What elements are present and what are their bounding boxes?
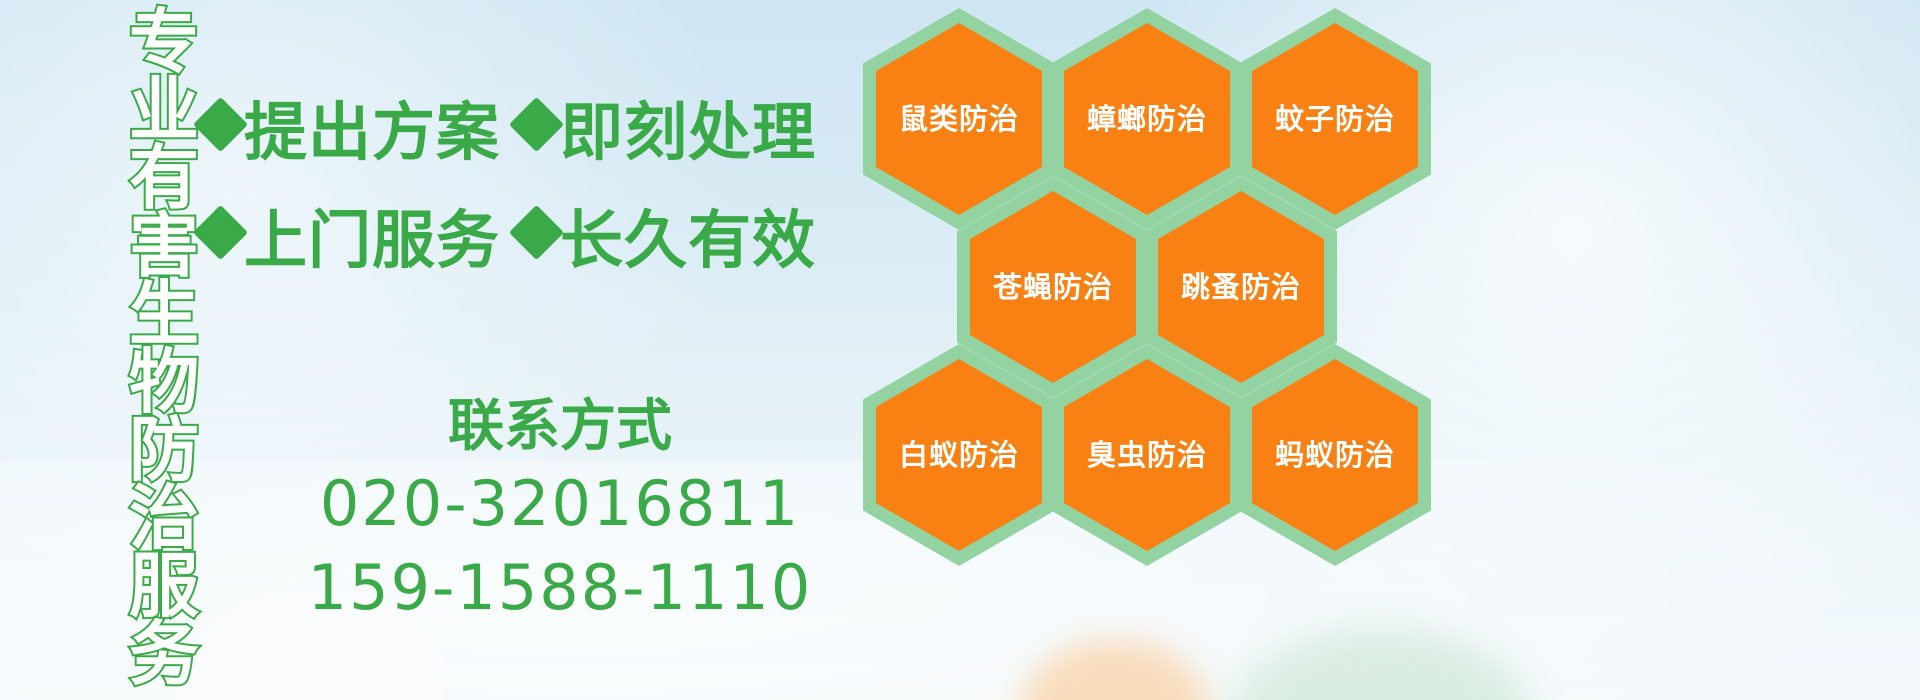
contact-phone-mobile[interactable]: 159-1588-1110 (300, 546, 820, 630)
service-hexagon-bedbug[interactable]: 臭虫防治 (1051, 344, 1243, 566)
service-hexagon-cluster: 鼠类防治 蟑螂防治 蚊子防治 苍蝇防治 跳蚤防治 (855, 0, 1455, 560)
background-blur-blob-green (1230, 630, 1530, 700)
service-label: 跳蚤防治 (1181, 271, 1301, 303)
vertical-headline-char: 业 (129, 76, 199, 144)
vertical-headline-char: 专 (129, 8, 199, 76)
feature-row: 上门服务 长久有效 (228, 186, 868, 294)
feature-item: 提出方案 (228, 101, 526, 164)
service-label: 鼠类防治 (899, 103, 1019, 135)
service-label: 蚂蚁防治 (1275, 439, 1395, 471)
service-label: 臭虫防治 (1087, 439, 1207, 471)
vertical-headline-char: 服 (129, 552, 199, 620)
vertical-headline-char: 防 (129, 416, 199, 484)
feature-label: 即刻处理 (560, 101, 816, 164)
promo-banner: 专 业 有 害 生 物 防 治 服 务 提出方案 即刻处理 上门服务 (0, 0, 1920, 700)
service-label: 蟑螂防治 (1087, 103, 1207, 135)
service-label: 蚊子防治 (1275, 103, 1395, 135)
feature-label: 上门服务 (244, 209, 500, 272)
feature-list: 提出方案 即刻处理 上门服务 长久有效 (228, 78, 868, 294)
vertical-headline-char: 务 (129, 620, 199, 688)
vertical-headline-char: 生 (129, 280, 199, 348)
contact-block: 联系方式 020-32016811 159-1588-1110 (300, 392, 820, 630)
feature-item: 即刻处理 (544, 101, 816, 164)
service-hexagon-termite[interactable]: 白蚁防治 (863, 344, 1055, 566)
vertical-headline-char: 有 (129, 144, 199, 212)
background-blur-blob-orange (1020, 640, 1210, 700)
feature-label: 长久有效 (560, 209, 816, 272)
contact-title: 联系方式 (300, 392, 820, 462)
service-label: 苍蝇防治 (993, 271, 1113, 303)
feature-row: 提出方案 即刻处理 (228, 78, 868, 186)
feature-item: 上门服务 (228, 209, 526, 272)
vertical-headline-char: 物 (129, 348, 199, 416)
service-label: 白蚁防治 (899, 439, 1019, 471)
vertical-headline: 专 业 有 害 生 物 防 治 服 务 (112, 8, 216, 688)
feature-label: 提出方案 (244, 101, 500, 164)
vertical-headline-char: 害 (129, 212, 199, 280)
vertical-headline-char: 治 (129, 484, 199, 552)
feature-item: 长久有效 (544, 209, 816, 272)
contact-phone-landline[interactable]: 020-32016811 (300, 462, 820, 546)
service-hexagon-ant[interactable]: 蚂蚁防治 (1239, 344, 1431, 566)
